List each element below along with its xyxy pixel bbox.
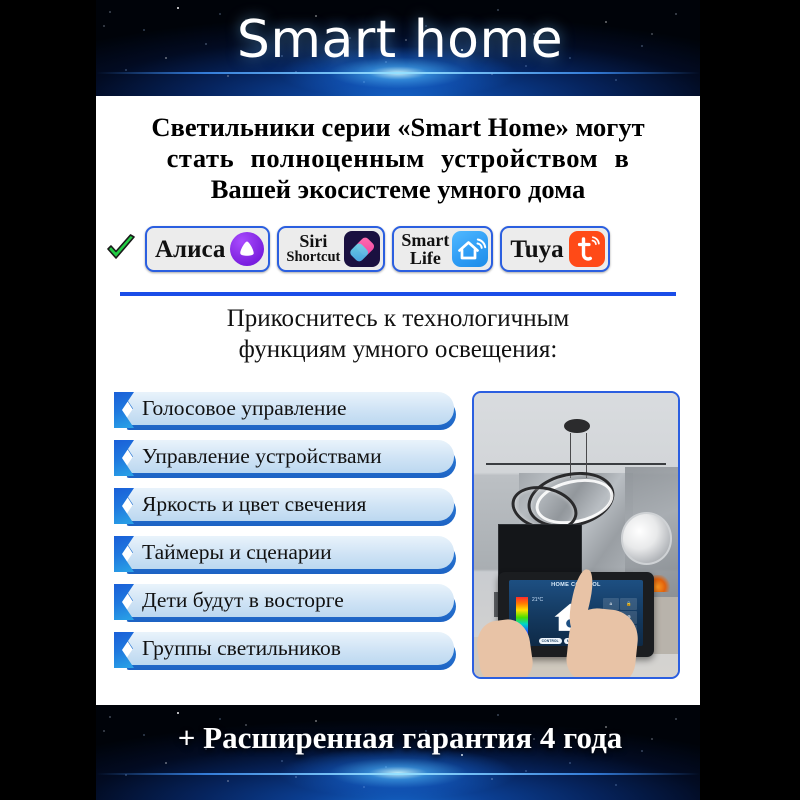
lens-flare-line	[96, 72, 700, 74]
content-card: Светильники серии «Smart Home» могут ста…	[96, 96, 700, 705]
smart-home-room-photo: HOME CONTROL 21°C ⌂ 🔒 ◉ ◍ ▣	[472, 391, 680, 679]
smart-life-house-wifi-icon	[452, 231, 491, 267]
feature-label: Яркость и цвет свечения	[142, 488, 454, 521]
badge-siri-label-line1: Siri	[299, 233, 327, 250]
badge-tuya-label: Tuya	[502, 237, 568, 262]
lock-icon[interactable]: 🔒	[620, 598, 637, 610]
badge-alisa-label: Алиса	[147, 237, 230, 262]
headline-line-3: Вашей экосистеме умного дома	[114, 174, 682, 205]
tablet-button-control[interactable]: CONTROL	[539, 638, 562, 644]
subheading-line-2: функциям умного освещения:	[120, 335, 676, 366]
ecosystem-badges-row: Алиса Siri Shortcut	[104, 224, 692, 274]
warranty-banner: + Расширенная гарантия 4 года	[0, 720, 800, 756]
subheading-block: Прикоснитесь к технологичным функциям ум…	[120, 304, 676, 365]
list-item[interactable]: Голосовое управление	[114, 392, 462, 430]
badge-smartlife-label-line2: Life	[410, 249, 441, 267]
feature-label: Дети будут в восторге	[142, 584, 454, 617]
feature-label: Таймеры и сценарии	[142, 536, 454, 569]
subheading-line-1: Прикоснитесь к технологичным	[120, 304, 676, 335]
headline-line-1: Светильники серии «Smart Home» могут	[114, 112, 682, 143]
green-check-icon	[104, 232, 138, 266]
badge-siri-shortcut[interactable]: Siri Shortcut	[277, 226, 385, 272]
list-item[interactable]: Яркость и цвет свечения	[114, 488, 462, 526]
list-item[interactable]: Группы светильников	[114, 632, 462, 670]
feature-list: Голосовое управление Управление устройст…	[114, 392, 462, 680]
badge-alisa[interactable]: Алиса	[145, 226, 270, 272]
badge-smartlife-label-line1: Smart	[401, 231, 449, 249]
badge-tuya[interactable]: Tuya	[500, 226, 609, 272]
badge-smart-life[interactable]: Smart Life	[392, 226, 493, 272]
feature-label: Группы светильников	[142, 632, 454, 665]
alice-assistant-icon	[230, 232, 268, 266]
list-item[interactable]: Таймеры и сценарии	[114, 536, 462, 574]
feature-label: Управление устройствами	[142, 440, 454, 473]
feature-label: Голосовое управление	[142, 392, 454, 425]
lens-flare-line	[96, 773, 700, 775]
list-item[interactable]: Управление устройствами	[114, 440, 462, 478]
siri-shortcuts-icon	[344, 231, 383, 267]
list-item[interactable]: Дети будут в восторге	[114, 584, 462, 622]
badge-siri-label-line2: Shortcut	[286, 250, 340, 265]
headline-block: Светильники серии «Smart Home» могут ста…	[114, 112, 682, 205]
section-divider	[120, 292, 676, 296]
round-mirror	[621, 512, 672, 564]
poster-root: Smart home Светильники серии «Smart Home…	[0, 0, 800, 800]
headline-line-2: стать полноценным устройством в	[114, 143, 682, 174]
tuya-t-wifi-icon	[569, 231, 608, 267]
pendant-canopy	[564, 419, 591, 433]
page-title: Smart home	[0, 10, 800, 70]
